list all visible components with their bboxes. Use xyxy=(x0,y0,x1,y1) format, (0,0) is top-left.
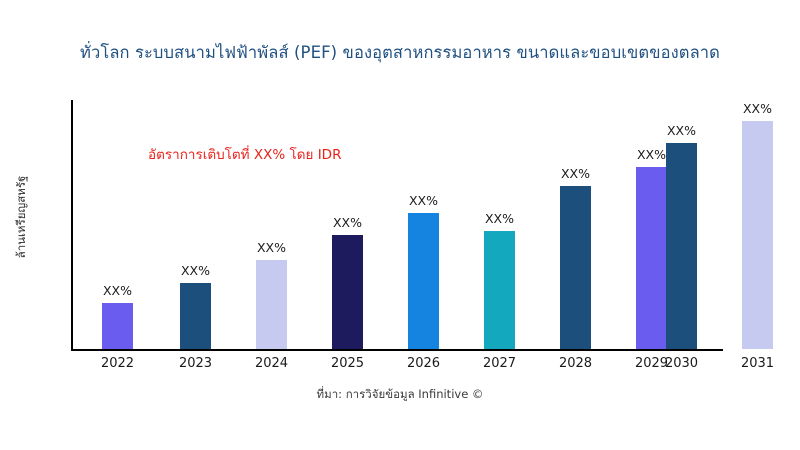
x-tick-label-2022: 2022 xyxy=(83,356,153,371)
x-tick-label-2023: 2023 xyxy=(161,356,231,371)
source-note: ที่มา: การวิจัยข้อมูล Infinitive © xyxy=(0,386,800,404)
bar-2023[interactable] xyxy=(180,283,211,349)
bar-2026[interactable] xyxy=(408,213,439,349)
bar-2024[interactable] xyxy=(256,260,287,349)
bar-2028[interactable] xyxy=(560,186,591,349)
bar-2027[interactable] xyxy=(484,231,515,349)
x-tick-label-2026: 2026 xyxy=(389,356,459,371)
y-axis-title: ล้านเหรียญสหรัฐ xyxy=(13,137,31,297)
bar-value-label-2027: XX% xyxy=(470,211,530,226)
bar-value-label-2024: XX% xyxy=(242,240,302,255)
x-axis-line xyxy=(71,349,723,351)
x-tick-label-2028: 2028 xyxy=(541,356,611,371)
bar-value-label-2022: XX% xyxy=(88,283,148,298)
bar-value-label-2023: XX% xyxy=(166,263,226,278)
bar-value-label-2031: XX% xyxy=(728,101,788,116)
x-tick-label-2025: 2025 xyxy=(313,356,383,371)
bar-2030[interactable] xyxy=(666,143,697,349)
chart-page: ทั่วโลก ระบบสนามไฟฟ้าพัลส์ (PEF) ของอุตส… xyxy=(0,0,800,450)
x-tick-label-2030: 2030 xyxy=(647,356,717,371)
bar-2029[interactable] xyxy=(636,167,667,349)
bar-value-label-2028: XX% xyxy=(546,166,606,181)
growth-rate-annotation: อัตราการเติบโตที่ XX% โดย IDR xyxy=(148,143,341,165)
x-tick-label-2024: 2024 xyxy=(237,356,307,371)
x-tick-label-2031: 2031 xyxy=(723,356,793,371)
x-tick-label-2027: 2027 xyxy=(465,356,535,371)
y-axis-line xyxy=(71,100,73,350)
plot-area: ล้านเหรียญสหรัฐ XX%2022XX%2023XX%2024XX%… xyxy=(0,0,800,450)
bar-2025[interactable] xyxy=(332,235,363,349)
bar-value-label-2030: XX% xyxy=(652,123,712,138)
bar-2031[interactable] xyxy=(742,121,773,349)
bar-2022[interactable] xyxy=(102,303,133,349)
bar-value-label-2025: XX% xyxy=(318,215,378,230)
bar-value-label-2026: XX% xyxy=(394,193,454,208)
